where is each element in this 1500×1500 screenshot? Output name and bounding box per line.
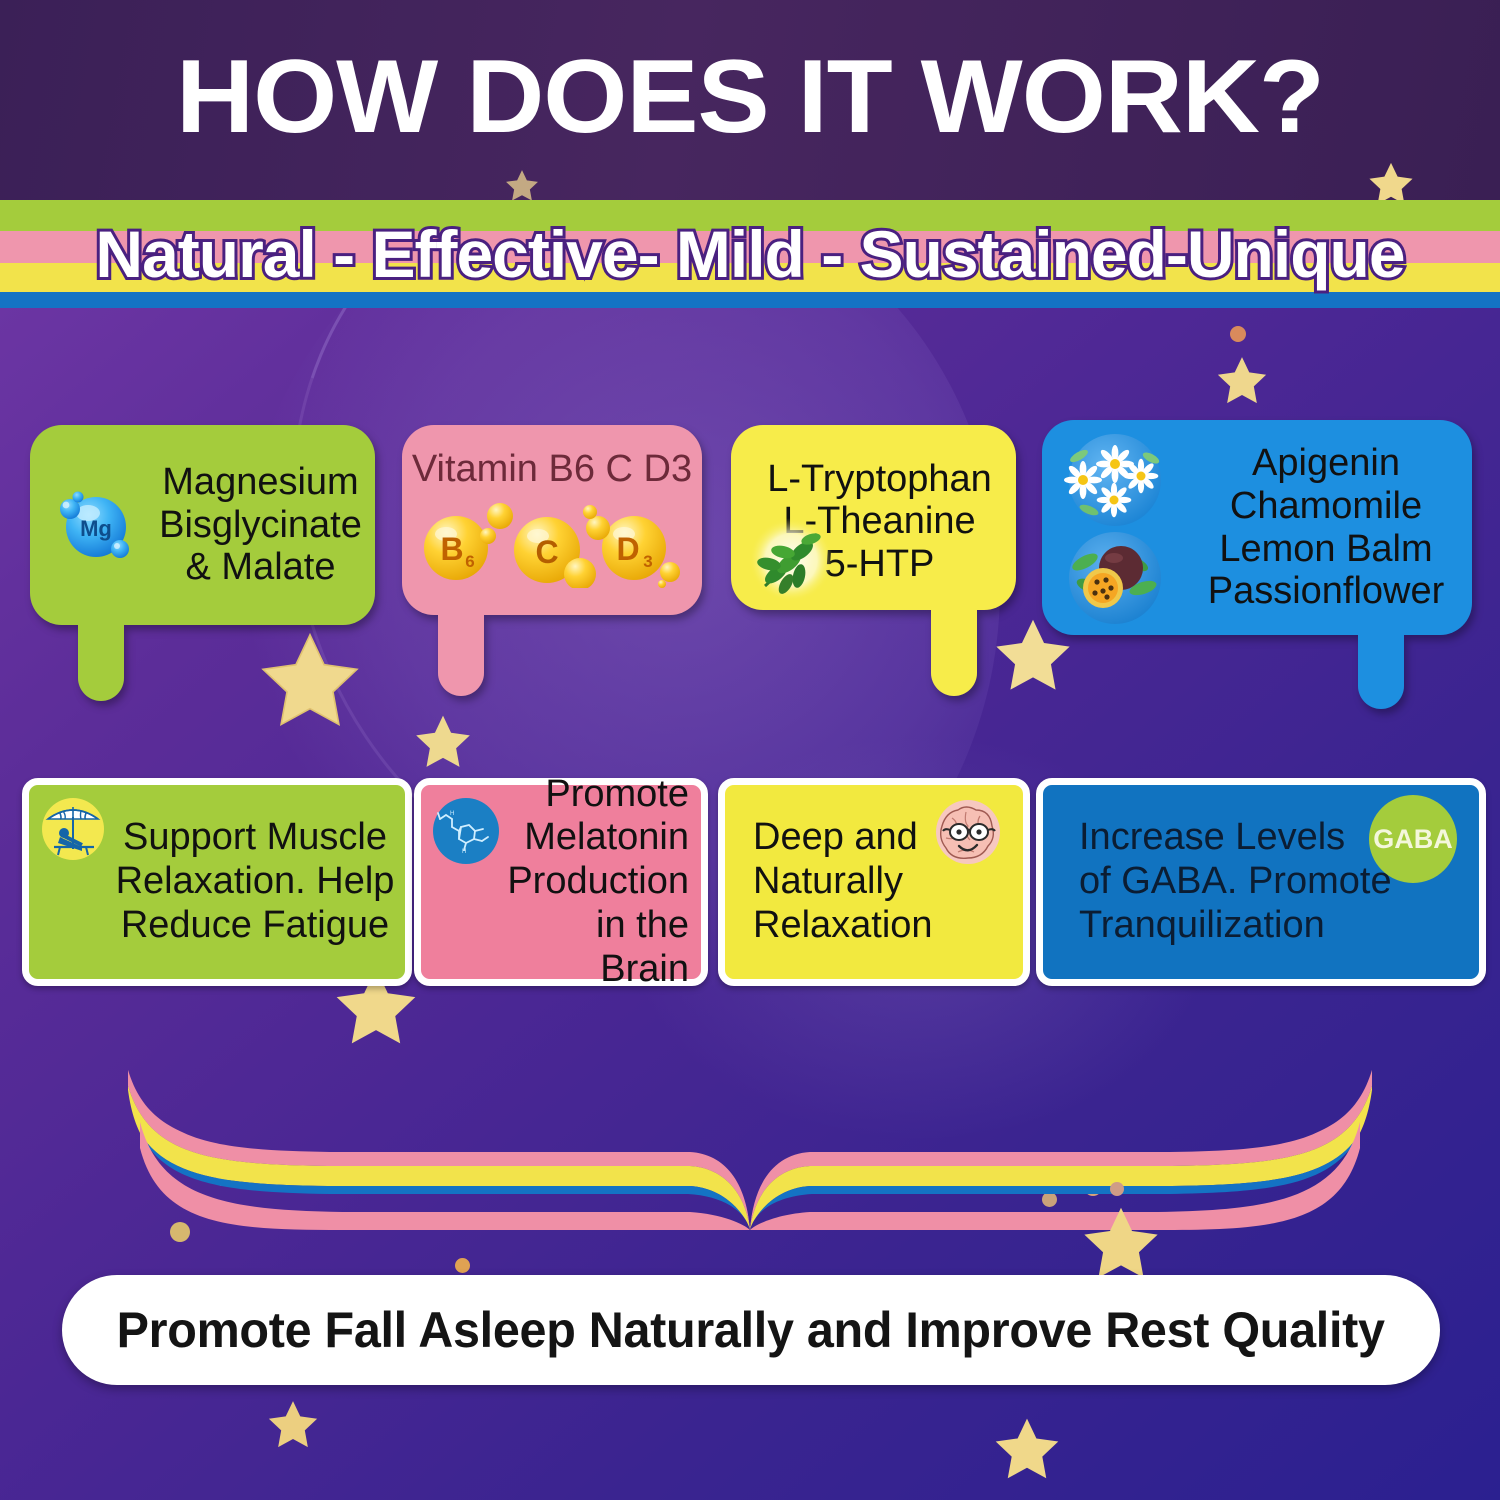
svg-text:B: B (440, 531, 463, 567)
footer-message: Promote Fall Asleep Naturally and Improv… (117, 1301, 1385, 1359)
ingredient-bubble-vitamins[interactable]: Vitamin B6 C D3 (402, 425, 702, 615)
melatonin-molecule-icon: H H (427, 793, 505, 869)
svg-text:3: 3 (643, 552, 652, 571)
svg-text:6: 6 (465, 552, 474, 571)
ingredient-bubble-botanicals[interactable]: Apigenin Chamomile Lemon Balm Passionflo… (1042, 420, 1472, 635)
benefit-card-muscle-relaxation[interactable]: Support Muscle Relaxation. Help Reduce F… (22, 778, 412, 986)
star-decoration (505, 168, 539, 200)
stripe-blue (0, 292, 1500, 308)
benefit-card-melatonin[interactable]: H H Promote Melatonin Production in the … (414, 778, 708, 986)
dot-decoration (1110, 1182, 1124, 1196)
benefit-card-deep-relaxation[interactable]: Deep and Naturally Relaxation (718, 778, 1030, 986)
svg-text:H: H (462, 849, 466, 855)
svg-text:Mg: Mg (80, 516, 112, 541)
ingredient-bubble-amino[interactable]: L-Tryptophan L-Theanine 5-HTP (731, 425, 1016, 610)
ingredient-label-vitamins: Vitamin B6 C D3 (412, 448, 692, 491)
gaba-badge-icon: GABA (1369, 795, 1457, 883)
star-decoration (1078, 1200, 1164, 1282)
benefit-label-melatonin: Promote Melatonin Production in the Brai… (505, 773, 701, 991)
svg-text:C: C (535, 534, 558, 570)
green-leaf-icon (745, 514, 837, 606)
dot-decoration (1230, 326, 1246, 342)
ingredient-label-botanicals: Apigenin Chamomile Lemon Balm Passionflo… (1180, 442, 1472, 612)
benefit-card-gaba[interactable]: Increase Levels of GABA. Promote Tranqui… (1036, 778, 1486, 986)
header-band: HOW DOES IT WORK? (0, 0, 1500, 200)
star-decoration (990, 1412, 1064, 1482)
star-decoration (412, 710, 474, 770)
page-title: HOW DOES IT WORK? (0, 38, 1500, 157)
star-decoration (265, 1396, 321, 1450)
vitamin-orbs-icon: B 6 C D 3 (412, 492, 692, 588)
gaba-badge-label: GABA (1373, 824, 1453, 855)
dot-decoration (170, 1222, 190, 1242)
benefit-label-muscle-relaxation: Support Muscle Relaxation. Help Reduce F… (109, 816, 405, 947)
star-decoration (255, 625, 365, 730)
happy-brain-icon (927, 795, 1009, 877)
star-decoration (1214, 352, 1270, 406)
bubble-tail (931, 606, 977, 696)
bubble-tail (78, 621, 124, 701)
bubble-tail (438, 611, 484, 696)
svg-text:H: H (450, 811, 454, 817)
star-decoration (990, 612, 1076, 694)
tagline-banner: Natural - Effective- Mild - Sustained-Un… (0, 200, 1500, 308)
chamomile-passionflower-icon (1056, 428, 1174, 628)
dot-decoration (455, 1258, 470, 1273)
svg-text:D: D (616, 531, 639, 567)
ribbon-decoration (0, 1030, 1500, 1230)
tagline-text: Natural - Effective- Mild - Sustained-Un… (0, 216, 1500, 292)
beach-lounger-icon (37, 795, 109, 865)
bubble-tail (1358, 631, 1404, 709)
infographic-root: HOW DOES IT WORK? Natural - Effective- M… (0, 0, 1500, 1500)
ingredient-bubble-magnesium[interactable]: Mg Magnesium Bisglycinate & Malate (30, 425, 375, 625)
star-decoration (1368, 160, 1414, 200)
footer-banner[interactable]: Promote Fall Asleep Naturally and Improv… (62, 1275, 1440, 1385)
ingredient-label-magnesium: Magnesium Bisglycinate & Malate (146, 461, 375, 589)
magnesium-orb-icon: Mg (42, 475, 146, 575)
